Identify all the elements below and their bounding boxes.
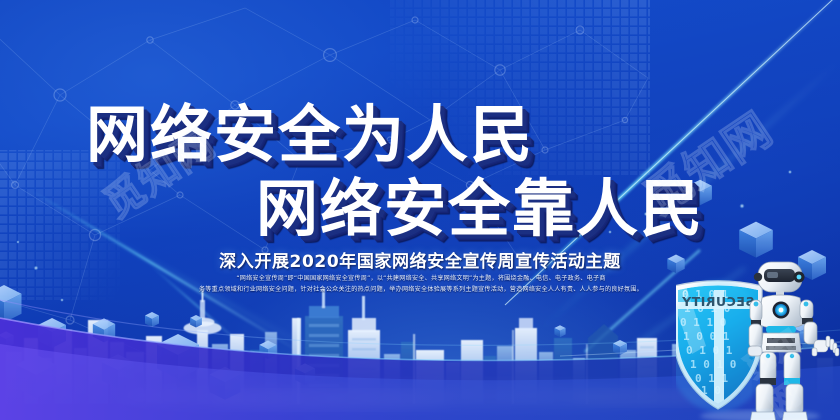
poster-canvas: 网络安全为人民 网络安全靠人民 深入开展2020年国家网络安全宣传周宣传活动主题… xyxy=(0,0,840,420)
fine-print-paragraph: “网络安全宣传周”即“中国国家网络安全宣传周”，以“共建网络安全、共享网络文明”… xyxy=(108,274,734,295)
fine-print-line-1: “网络安全宣传周”即“中国国家网络安全宣传周”，以“共建网络安全、共享网络文明”… xyxy=(108,274,734,285)
fine-print-line-2: 务等重点领域和行业网络安全问题，针对社会公众关注的热点问题，举办网络安全体验展等… xyxy=(108,285,734,296)
